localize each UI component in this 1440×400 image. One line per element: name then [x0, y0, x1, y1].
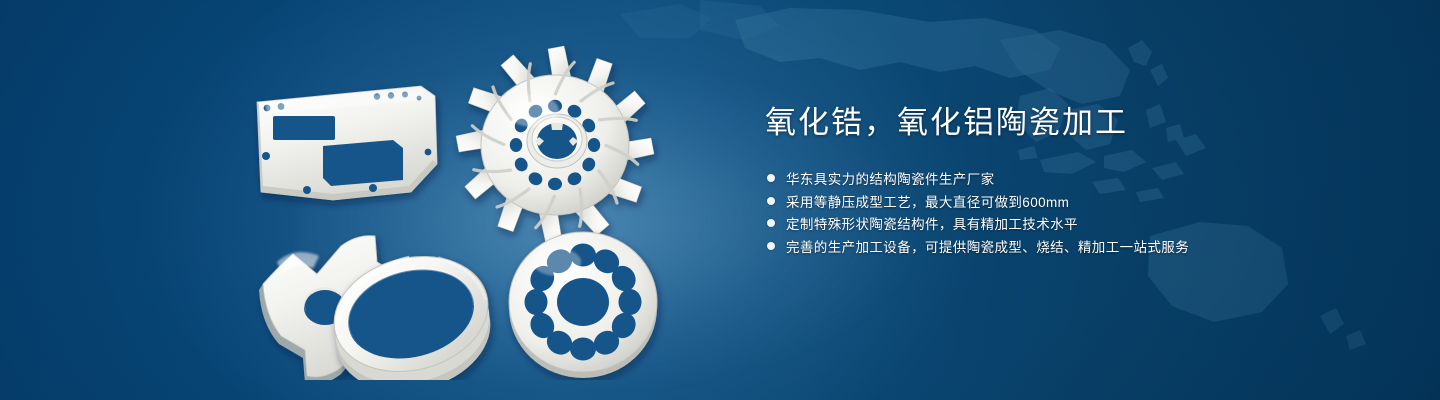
- bullet-dot-icon: [767, 219, 775, 227]
- page-title: 氧化锆，氧化铝陶瓷加工: [765, 104, 1385, 143]
- ceramic-products-image: [225, 40, 685, 380]
- ceramic-plate-part: [257, 86, 437, 200]
- feature-list: 华东具实力的结构陶瓷件生产厂家 采用等静压成型工艺，最大直径可做到600mm 定…: [767, 167, 1385, 257]
- feature-text: 采用等静压成型工艺，最大直径可做到600mm: [786, 191, 1069, 211]
- bullet-dot-icon: [767, 197, 775, 205]
- feature-text: 完善的生产加工设备，可提供陶瓷成型、烧结、精加工一站式服务: [786, 236, 1189, 256]
- feature-text: 华东具实力的结构陶瓷件生产厂家: [786, 168, 995, 188]
- list-item: 华东具实力的结构陶瓷件生产厂家: [767, 167, 1385, 190]
- list-item: 完善的生产加工设备，可提供陶瓷成型、烧结、精加工一站式服务: [767, 234, 1385, 257]
- ceramic-perforated-plate-part: [509, 232, 657, 378]
- bullet-dot-icon: [767, 242, 775, 250]
- bullet-dot-icon: [767, 174, 775, 182]
- feature-text: 定制特殊形状陶瓷结构件，具有精加工技术水平: [786, 213, 1078, 233]
- banner-copy: 氧化锆，氧化铝陶瓷加工 华东具实力的结构陶瓷件生产厂家 采用等静压成型工艺，最大…: [765, 104, 1385, 273]
- list-item: 采用等静压成型工艺，最大直径可做到600mm: [767, 189, 1385, 212]
- ceramic-impeller-part: [456, 46, 654, 244]
- hero-banner: 氧化锆，氧化铝陶瓷加工 华东具实力的结构陶瓷件生产厂家 采用等静压成型工艺，最大…: [0, 0, 1440, 400]
- list-item: 定制特殊形状陶瓷结构件，具有精加工技术水平: [767, 212, 1385, 235]
